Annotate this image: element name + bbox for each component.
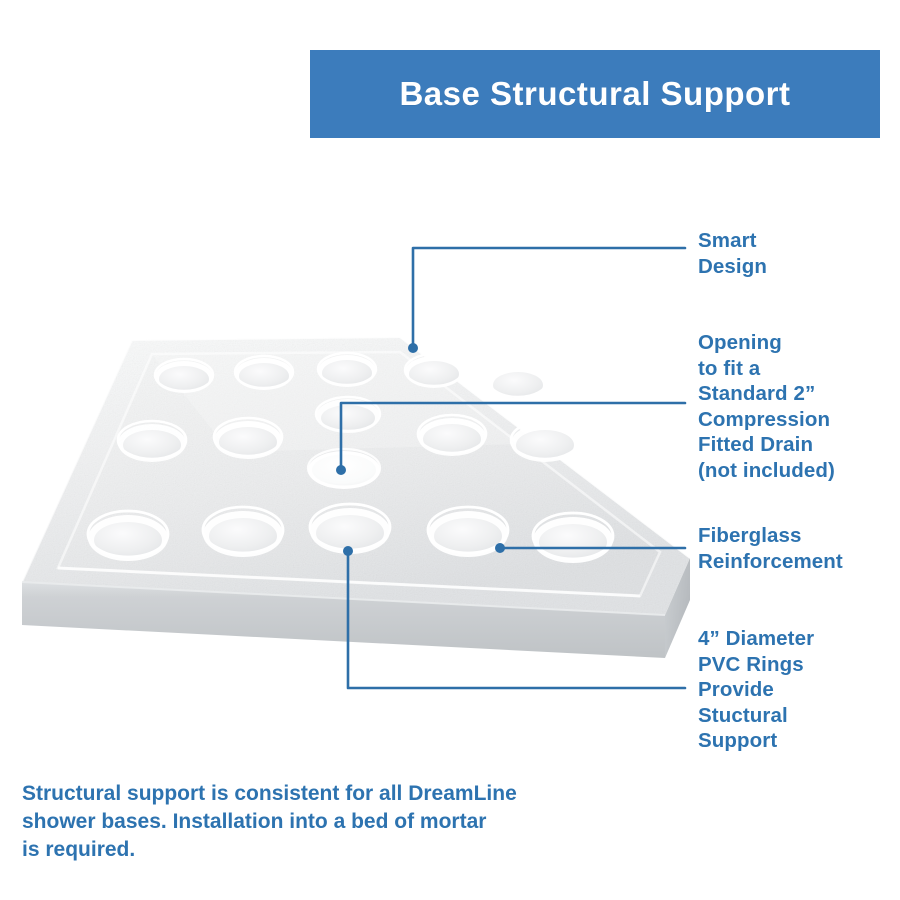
footer-caption: Structural support is consistent for all… <box>22 780 622 864</box>
leader-dot-pvc-rings <box>343 546 353 556</box>
leader-line-drain-opening <box>341 403 685 466</box>
infographic-page: Base Structural Support Smart Design Ope… <box>0 0 900 900</box>
leader-dot-smart-design <box>408 343 418 353</box>
annotation-pvc-rings: 4” Diameter PVC Rings Provide Stuctural … <box>698 626 814 754</box>
leader-line-smart-design <box>413 248 685 344</box>
leader-dot-fiberglass-reinforcement <box>495 543 505 553</box>
page-title: Base Structural Support <box>399 75 790 113</box>
title-banner: Base Structural Support <box>310 50 880 138</box>
leader-dot-drain-opening <box>336 465 346 475</box>
annotation-drain-opening: Opening to fit a Standard 2” Compression… <box>698 330 835 483</box>
annotation-fiberglass-reinforcement: Fiberglass Reinforcement <box>698 523 843 574</box>
leader-line-pvc-rings <box>348 555 685 688</box>
annotation-smart-design: Smart Design <box>698 228 767 279</box>
